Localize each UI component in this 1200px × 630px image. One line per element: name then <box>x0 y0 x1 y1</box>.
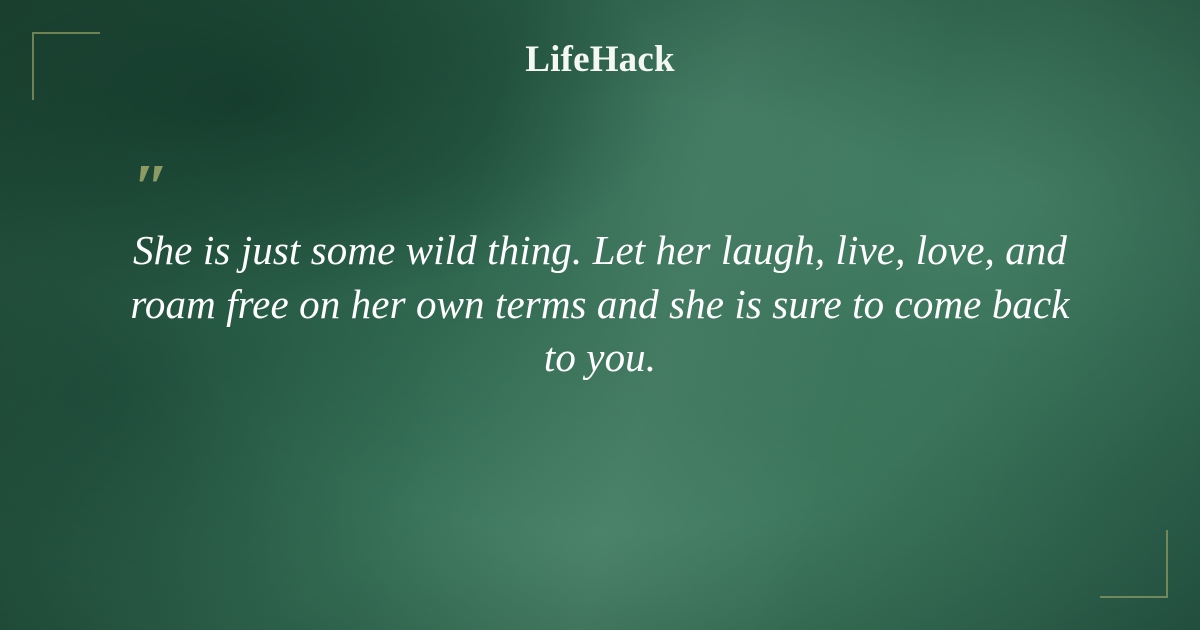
quote-card: LifeHack ″ She is just some wild thing. … <box>0 0 1200 630</box>
quote-block: ″ She is just some wild thing. Let her l… <box>100 168 1100 385</box>
brand-logo: LifeHack <box>0 40 1200 81</box>
quote-mark-icon: ″ <box>133 168 1100 214</box>
quote-text: She is just some wild thing. Let her lau… <box>100 224 1100 385</box>
